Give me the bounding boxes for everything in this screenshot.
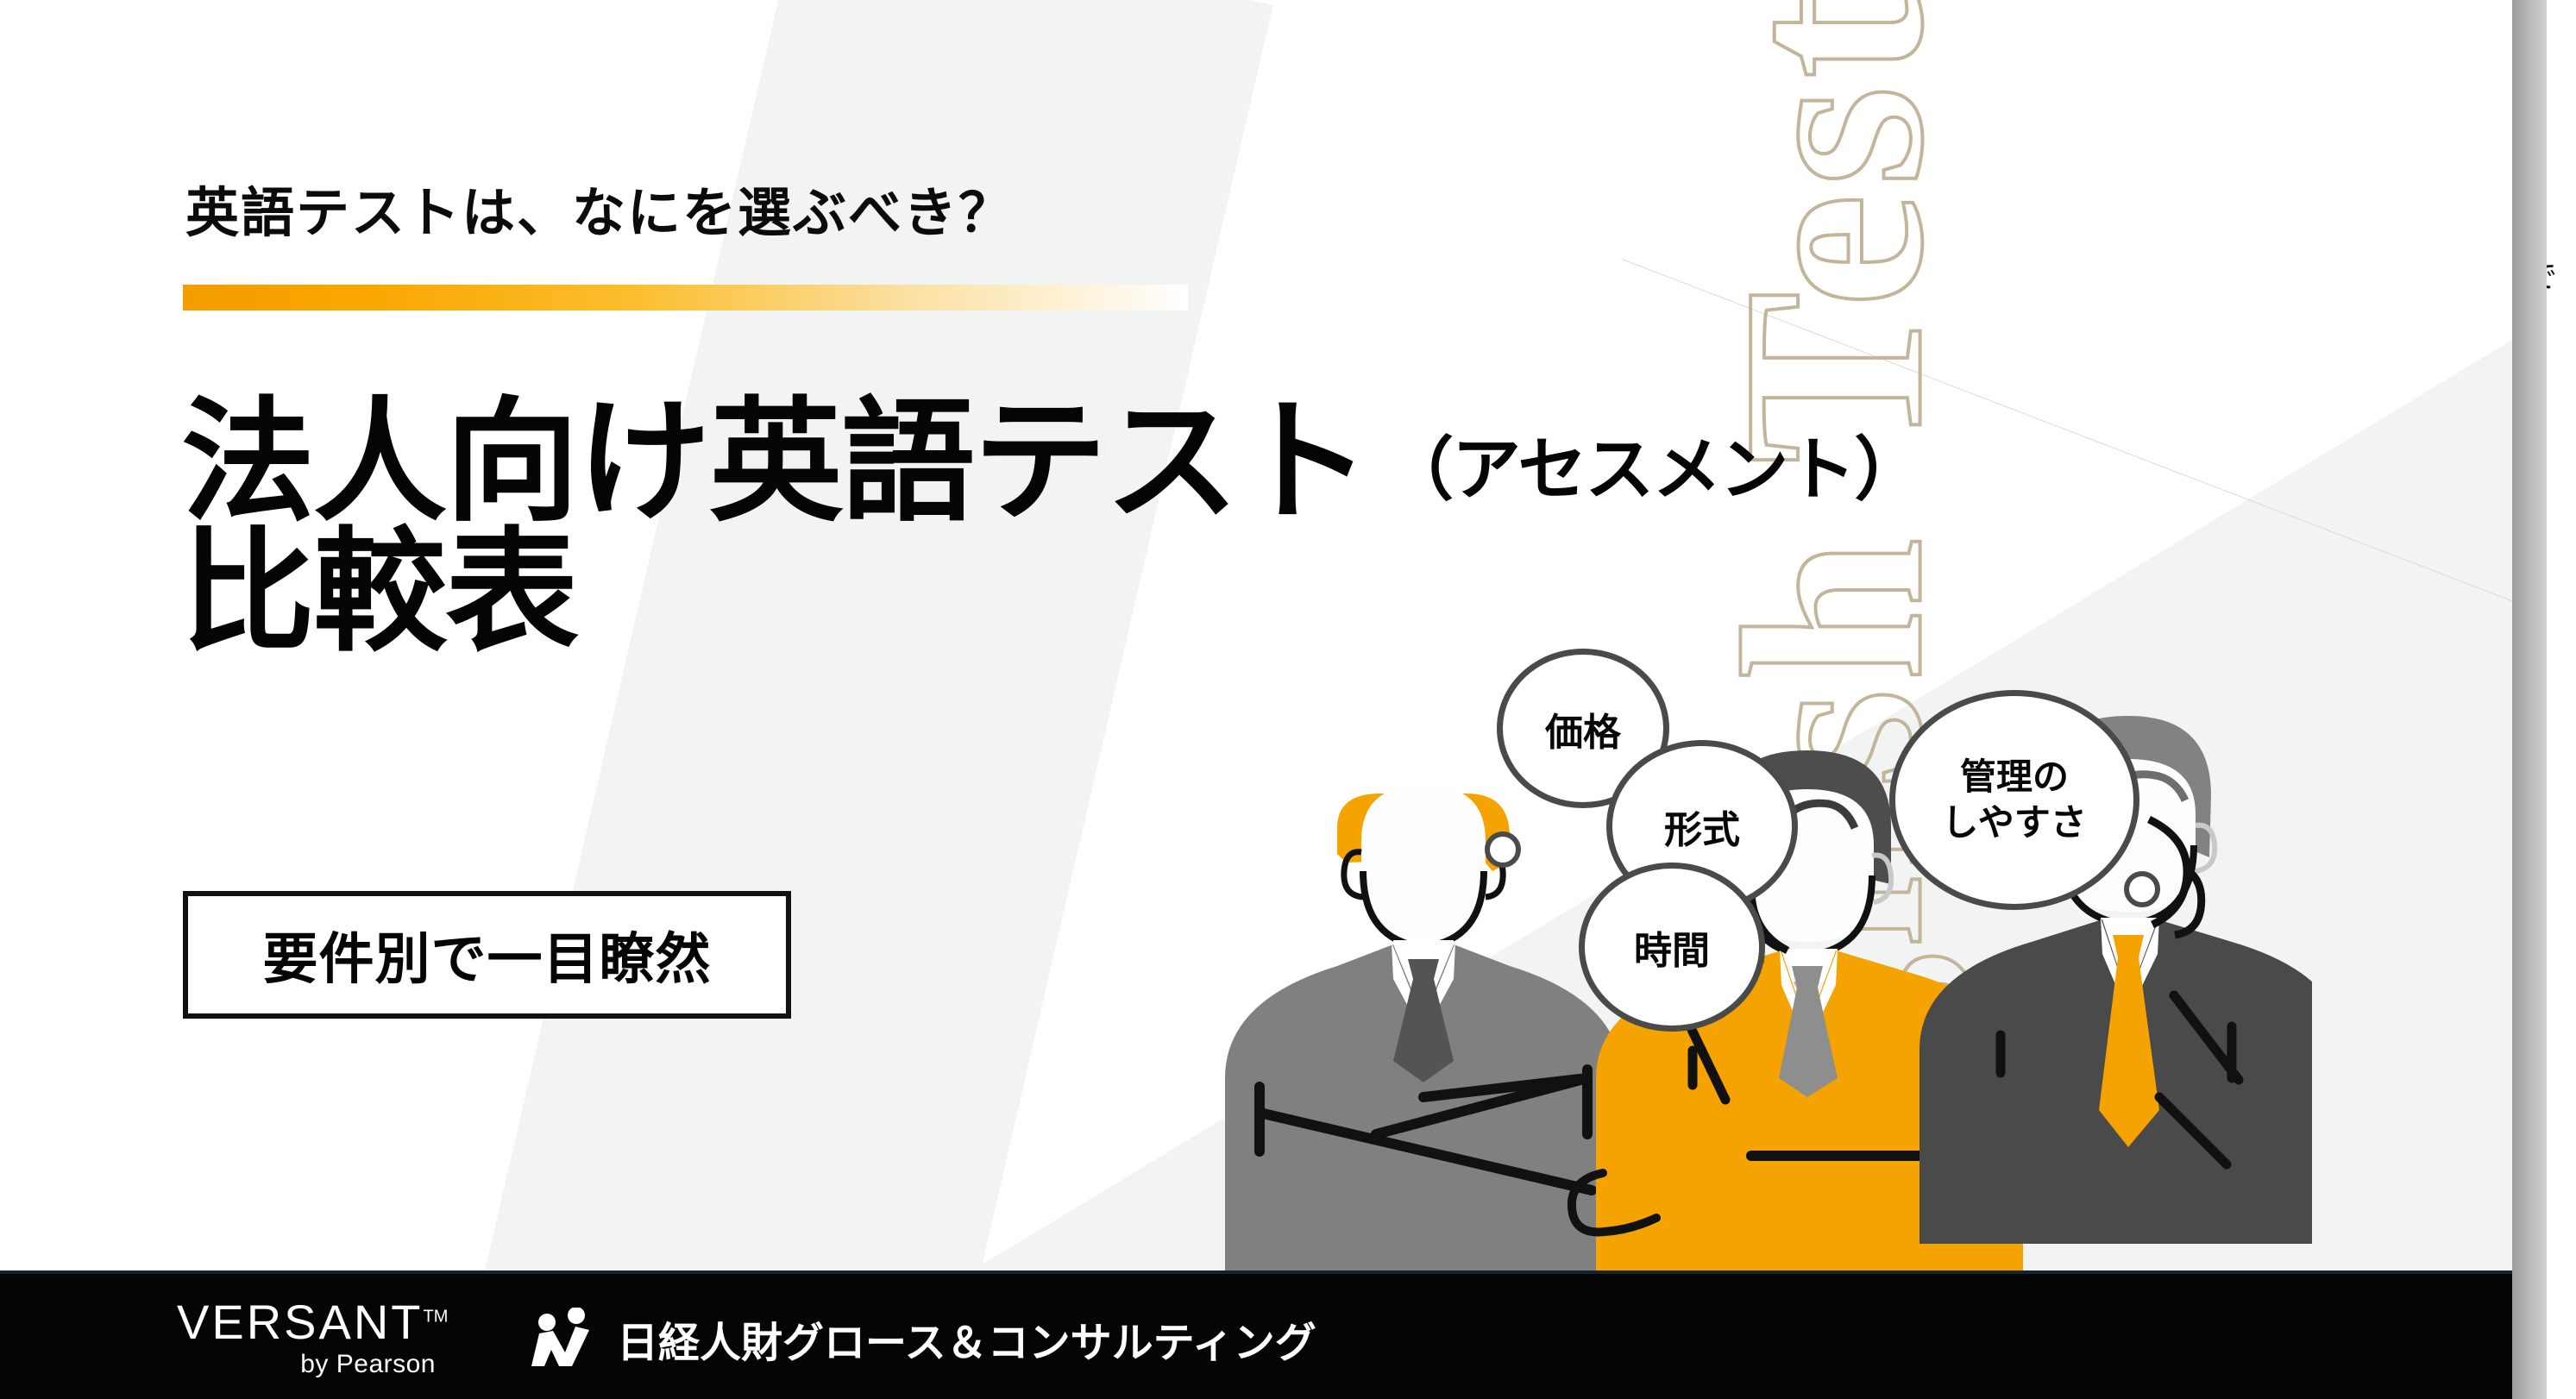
versant-wordmark: VERSANTTM xyxy=(177,1298,436,1346)
title-block: 法人向け英語テスト （アセスメント） 比較表 xyxy=(181,392,1921,663)
thought-bubble-dot-right xyxy=(2124,871,2160,907)
thought-bubble-management: 管理の しやすさ xyxy=(1889,690,2139,910)
bubble-price-text: 価格 xyxy=(1545,701,1621,756)
tagline-box: 要件別で一目瞭然 xyxy=(183,891,791,1019)
tagline-text: 要件別で一目瞭然 xyxy=(263,915,712,994)
orange-accent-bar xyxy=(183,285,1188,311)
vertical-scrollbar-track[interactable] xyxy=(2512,0,2547,1399)
bubble-management-line-2: しやすさ xyxy=(1942,800,2087,846)
title-parenthetical: （アセスメント） xyxy=(1385,414,1921,514)
thought-bubble-time: 時間 xyxy=(1579,863,1765,1032)
slide-subtitle: 英語テストは、なにを選ぶべき？ xyxy=(185,169,1014,247)
bubble-format-text: 形式 xyxy=(1664,799,1740,854)
bubble-management-lines: 管理の しやすさ xyxy=(1942,755,2087,845)
person-one-group xyxy=(1225,785,1622,1272)
slide-canvas: English Test 英語テストは、なにを選ぶべき？ 法人向け英語テスト （… xyxy=(0,0,2512,1399)
bubble-time-text: 時間 xyxy=(1634,919,1710,975)
versant-logo: VERSANTTM by Pearson xyxy=(177,1298,436,1379)
two-people-icon xyxy=(531,1308,598,1370)
presentation-viewer: English Test 英語テストは、なにを選ぶべき？ 法人向け英語テスト （… xyxy=(0,0,2576,1399)
trademark-icon: TM xyxy=(424,1307,449,1326)
nikkei-wordmark: 日経人財グロース＆コンサルティング xyxy=(617,1308,1316,1369)
thought-bubble-dot-left xyxy=(1485,831,1521,868)
nikkei-logo: 日経人財グロース＆コンサルティング xyxy=(531,1308,1316,1370)
versant-word-text: VERSANT xyxy=(177,1295,424,1349)
slide-footer-bar: VERSANTTM by Pearson 日経人財グロース＆コンサルティング xyxy=(0,1270,2512,1399)
title-first-row: 法人向け英語テスト （アセスメント） xyxy=(181,392,1921,533)
title-line-1: 法人向け英語テスト xyxy=(181,392,1369,533)
bubble-management-line-1: 管理の xyxy=(1942,755,2087,800)
title-line-2: 比較表 xyxy=(181,523,1921,663)
versant-byline: by Pearson xyxy=(177,1350,436,1379)
